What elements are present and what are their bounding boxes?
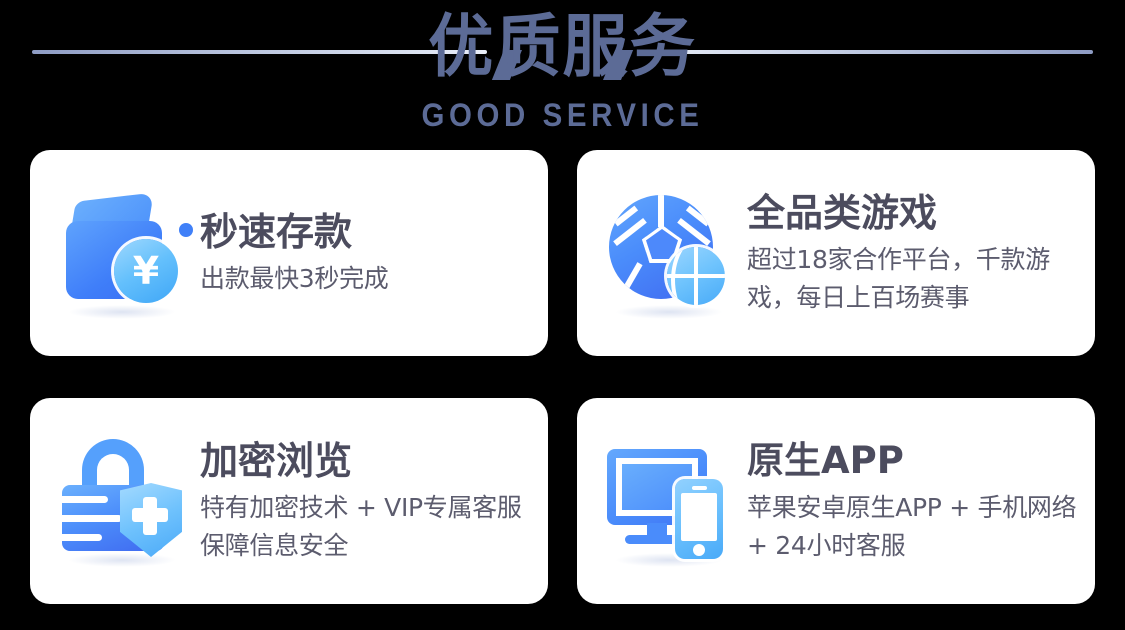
feature-card-all-games[interactable]: 全品类游戏 超过18家合作平台，千款游戏，每日上百场赛事 xyxy=(577,150,1095,356)
feature-card-native-app[interactable]: 原生APP 苹果安卓原生APP + 手机网络 + 24小时客服 xyxy=(577,398,1095,604)
card-text-block: 原生APP 苹果安卓原生APP + 手机网络 + 24小时客服 xyxy=(747,437,1089,565)
phone-icon xyxy=(675,479,723,559)
soccer-seam xyxy=(658,195,664,227)
lock-shield-icon xyxy=(58,435,186,567)
wallet-clasp-icon xyxy=(179,223,193,237)
card-text-block: 加密浏览 特有加密技术 + VIP专属客服保障信息安全 xyxy=(200,437,542,565)
soccer-seam xyxy=(617,262,642,299)
wallet-icon: ¥ xyxy=(58,187,186,319)
icon-shadow xyxy=(68,305,176,319)
basketball-curve xyxy=(671,247,725,305)
card-description: 特有加密技术 + VIP专属客服保障信息安全 xyxy=(200,489,542,565)
card-text-block: 秒速存款 出款最快3秒完成 xyxy=(200,208,542,298)
sports-balls-icon xyxy=(605,187,733,319)
card-description: 苹果安卓原生APP + 手机网络 + 24小时客服 xyxy=(747,489,1089,565)
icon-shadow xyxy=(68,553,176,567)
page-subtitle: GOOD SERVICE xyxy=(45,96,1080,134)
phone-home-button xyxy=(693,544,705,556)
lock-slot xyxy=(62,515,122,522)
page-header: 优质服务 GOOD SERVICE xyxy=(0,0,1125,140)
devices-icon xyxy=(605,435,733,567)
card-title: 加密浏览 xyxy=(200,437,542,485)
yen-symbol: ¥ xyxy=(133,252,159,290)
card-title: 原生APP xyxy=(747,437,1089,485)
lock-slot xyxy=(62,534,102,541)
feature-card-encrypted-browsing[interactable]: 加密浏览 特有加密技术 + VIP专属客服保障信息安全 xyxy=(30,398,548,604)
icon-shadow xyxy=(615,305,723,319)
phone-speaker xyxy=(692,486,707,490)
feature-card-grid: ¥ 秒速存款 出款最快3秒完成 xyxy=(30,150,1095,602)
card-description: 超过18家合作平台，千款游戏，每日上百场赛事 xyxy=(747,241,1089,317)
card-title: 秒速存款 xyxy=(200,208,542,256)
card-text-block: 全品类游戏 超过18家合作平台，千款游戏，每日上百场赛事 xyxy=(747,189,1089,317)
cross-icon xyxy=(132,508,168,522)
card-title: 全品类游戏 xyxy=(747,189,1089,237)
lock-slot xyxy=(62,496,108,503)
feature-card-instant-deposit[interactable]: ¥ 秒速存款 出款最快3秒完成 xyxy=(30,150,548,356)
phone-screen xyxy=(681,493,717,541)
soccer-seam xyxy=(686,206,710,227)
basketball-icon xyxy=(667,247,725,305)
card-description: 出款最快3秒完成 xyxy=(200,260,542,298)
page-title: 优质服务 xyxy=(23,6,1103,90)
yen-coin-icon: ¥ xyxy=(114,239,178,303)
